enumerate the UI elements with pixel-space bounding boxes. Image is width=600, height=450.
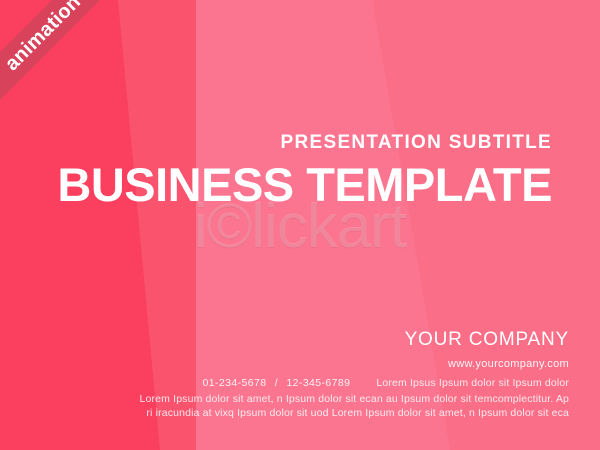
headline-block: PRESENTATION SUBTITLE BUSINESS TEMPLATE	[57, 133, 552, 209]
company-name: YOUR COMPANY	[9, 329, 569, 351]
page-title: BUSINESS TEMPLATE	[57, 160, 552, 209]
phone-primary: 01-234-5678	[203, 377, 267, 389]
company-website: www.yourcompany.com	[9, 358, 569, 371]
phone-numbers: 01-234-5678 / 12-345-6789	[203, 377, 351, 390]
footer-tagline: Lorem Ipsus Ipsum dolor sit Ipsum dolor	[376, 377, 569, 391]
phone-separator: /	[270, 377, 283, 389]
footer-block: YOUR COMPANY www.yourcompany.com 01-234-…	[9, 329, 569, 421]
presentation-subtitle: PRESENTATION SUBTITLE	[57, 133, 552, 154]
presentation-slide: i©lickart animation PRESENTATION SUBTITL…	[0, 0, 600, 450]
footer-body-line-1: Lorem Ipsum dolor sit amet, n Ipsum dolo…	[9, 393, 569, 407]
contact-row: 01-234-5678 / 12-345-6789 Lorem Ipsus Ip…	[9, 377, 569, 391]
phone-secondary: 12-345-6789	[286, 377, 350, 389]
footer-body-line-2: ri iracundia at vixq Ipsum dolor sit uod…	[9, 407, 569, 421]
